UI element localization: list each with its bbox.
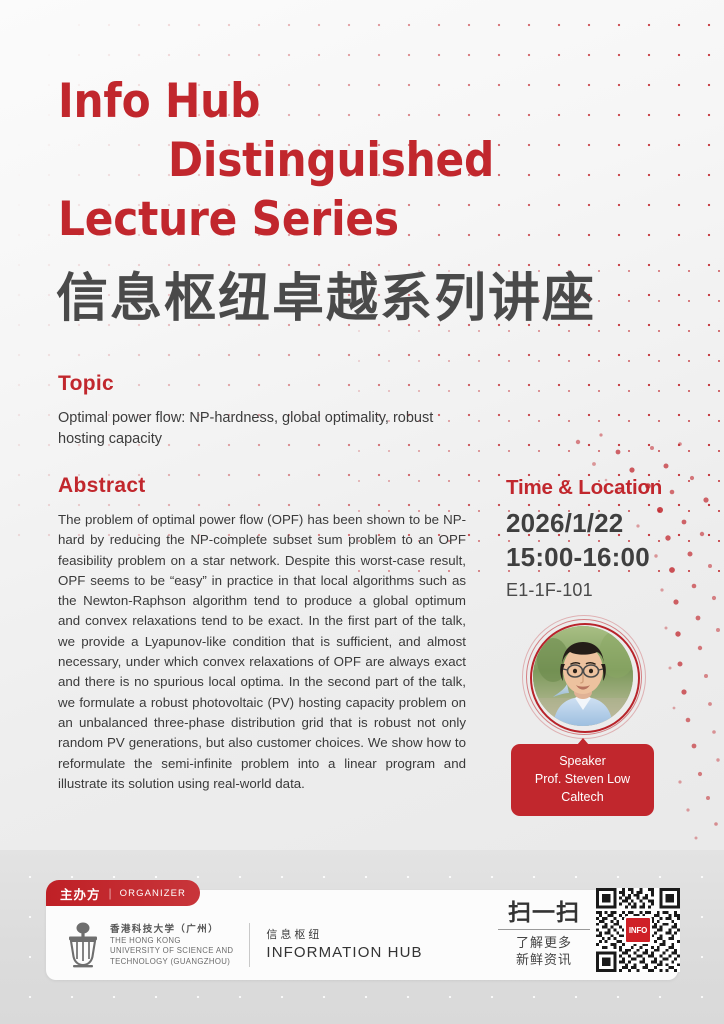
- speaker-photo-frame: [531, 624, 635, 728]
- speaker-role-label: Speaker: [511, 752, 654, 770]
- university-name-english-1: THE HONG KONG: [110, 936, 233, 947]
- event-time: 15:00-16:00: [506, 542, 650, 573]
- abstract-heading: Abstract: [58, 474, 146, 498]
- organizer-badge-chinese: 主办方: [60, 884, 101, 903]
- page-title-english: Info Hub Distinguished Lecture Series: [58, 72, 678, 249]
- page-title-chinese: 信息枢纽卓越系列讲座: [56, 256, 596, 331]
- university-name-english-2: UNIVERSITY OF SCIENCE AND: [110, 946, 233, 957]
- speaker-name: Prof. Steven Low: [511, 770, 654, 788]
- scan-underline: [498, 929, 590, 930]
- speaker-affiliation: Caltech: [511, 788, 654, 806]
- time-location-heading: Time & Location: [506, 476, 662, 500]
- scan-subtitle-line-1: 了解更多: [496, 934, 592, 951]
- organizer-badge-separator: |: [109, 886, 112, 900]
- information-hub-block: 信息枢纽 INFORMATION HUB: [266, 927, 422, 963]
- hkust-logo-text: 香港科技大学（广州） THE HONG KONG UNIVERSITY OF S…: [110, 923, 233, 968]
- scan-prompt-block: 扫一扫 了解更多 新鲜资讯: [496, 899, 592, 968]
- abstract-text: The problem of optimal power flow (OPF) …: [58, 510, 466, 794]
- title-line-1: Info Hub: [58, 72, 678, 131]
- title-line-3: Lecture Series: [58, 190, 678, 249]
- footer-divider: [249, 923, 250, 967]
- university-name-chinese: 香港科技大学（广州）: [110, 923, 233, 936]
- title-line-2: Distinguished: [58, 131, 678, 190]
- organizer-badge: 主办方 | ORGANIZER: [46, 880, 200, 906]
- scan-title: 扫一扫: [496, 899, 592, 926]
- organizer-badge-english: ORGANIZER: [120, 888, 186, 899]
- event-date: 2026/1/22: [506, 508, 623, 539]
- hkust-logo-icon: [64, 922, 102, 968]
- information-hub-chinese: 信息枢纽: [266, 927, 422, 943]
- event-venue: E1-1F-101: [506, 580, 593, 601]
- speaker-info-card: Speaker Prof. Steven Low Caltech: [511, 744, 654, 816]
- qr-code[interactable]: INFO: [596, 888, 680, 972]
- topic-text: Optimal power flow: NP-hardness, global …: [58, 408, 458, 450]
- university-name-english-3: TECHNOLOGY (GUANGZHOU): [110, 957, 233, 968]
- information-hub-english: INFORMATION HUB: [266, 943, 422, 963]
- speaker-avatar: [533, 626, 633, 726]
- topic-heading: Topic: [58, 372, 114, 396]
- poster-root: Info Hub Distinguished Lecture Series 信息…: [0, 0, 724, 1024]
- scan-subtitle-line-2: 新鲜资讯: [496, 951, 592, 968]
- footer-logo-row: 香港科技大学（广州） THE HONG KONG UNIVERSITY OF S…: [64, 922, 423, 968]
- qr-center-logo: INFO: [624, 916, 652, 944]
